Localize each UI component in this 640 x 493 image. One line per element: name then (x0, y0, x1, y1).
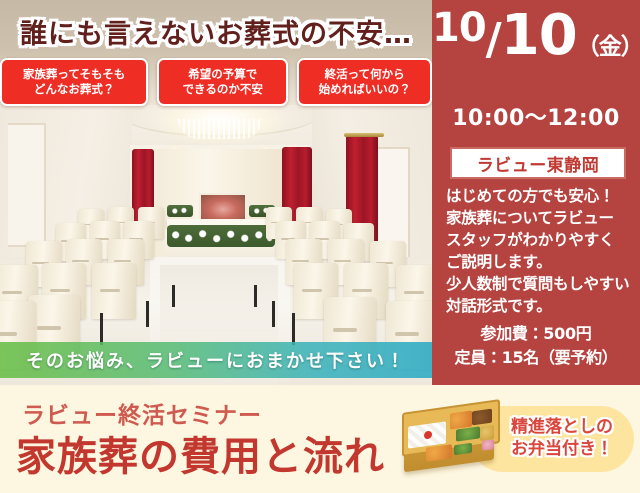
event-day-of-week: （金） (577, 34, 640, 60)
event-description: はじめての方でも安心！家族葬についてラビュースタッフがわかりやすくご説明します。… (446, 185, 640, 317)
event-month: 10 (432, 5, 486, 51)
venue-badge: ラビュー東静岡 (450, 147, 626, 179)
page-title: 誰にも言えないお葬式の不安… (0, 12, 432, 51)
event-info-panel: 10/10（金） 10:00〜12:00 ラビュー東静岡 はじめての方でも安心！… (432, 0, 640, 385)
event-fees: 参加費：500円 定員：15名（要予約） (432, 322, 640, 370)
chair-leg (272, 301, 275, 327)
food-compartment (450, 410, 472, 429)
tagline-banner: そのお悩み、ラビューにおまかせ下さい！ (0, 342, 432, 378)
chair-leg (100, 313, 103, 345)
concern-bubble-2: 希望の予算でできるのか不安 (157, 58, 288, 106)
venue-name: ラビュー東静岡 (477, 151, 600, 176)
chair-leg (254, 285, 257, 307)
left-doorway (8, 123, 46, 247)
curtain-rod (344, 133, 384, 137)
event-day: 10 (501, 3, 577, 68)
seminar-title: 家族葬の費用と流れ (16, 424, 385, 482)
food-compartment (472, 409, 492, 426)
concern-bubble-1: 家族葬ってそもそもどんなお葬式？ (0, 58, 148, 106)
bento-badge-text: 精進落としのお弁当付き！ (492, 416, 632, 460)
participation-fee: 参加費：500円 (432, 322, 640, 346)
chair-leg (292, 313, 295, 345)
photo-panel: 誰にも言えないお葬式の不安… 家族葬ってそもそもどんなお葬式？ 希望の予算ででき… (0, 0, 432, 385)
chandelier (150, 109, 290, 147)
chair-leg (172, 285, 175, 307)
chair (92, 263, 136, 319)
seminar-poster: 誰にも言えないお葬式の不安… 家族葬ってそもそもどんなお葬式？ 希望の予算ででき… (0, 0, 640, 493)
capacity-note: 定員：15名（要予約） (432, 346, 640, 370)
tagline-text: そのお悩み、ラビューにおまかせ下さい！ (26, 347, 406, 373)
concern-bubbles: 家族葬ってそもそもどんなお葬式？ 希望の予算でできるのか不安 終活って何から始め… (0, 58, 432, 106)
event-date: 10/10（金） (432, 8, 640, 64)
main-flower-arrangement (167, 225, 275, 247)
date-slash: / (486, 14, 501, 65)
event-time: 10:00〜12:00 (432, 100, 640, 132)
concern-bubble-3: 終活って何から始めればいいの？ (297, 58, 432, 106)
chair-leg (146, 301, 149, 327)
flower-arrangement-left (167, 205, 193, 217)
bento-box-icon (398, 398, 502, 480)
